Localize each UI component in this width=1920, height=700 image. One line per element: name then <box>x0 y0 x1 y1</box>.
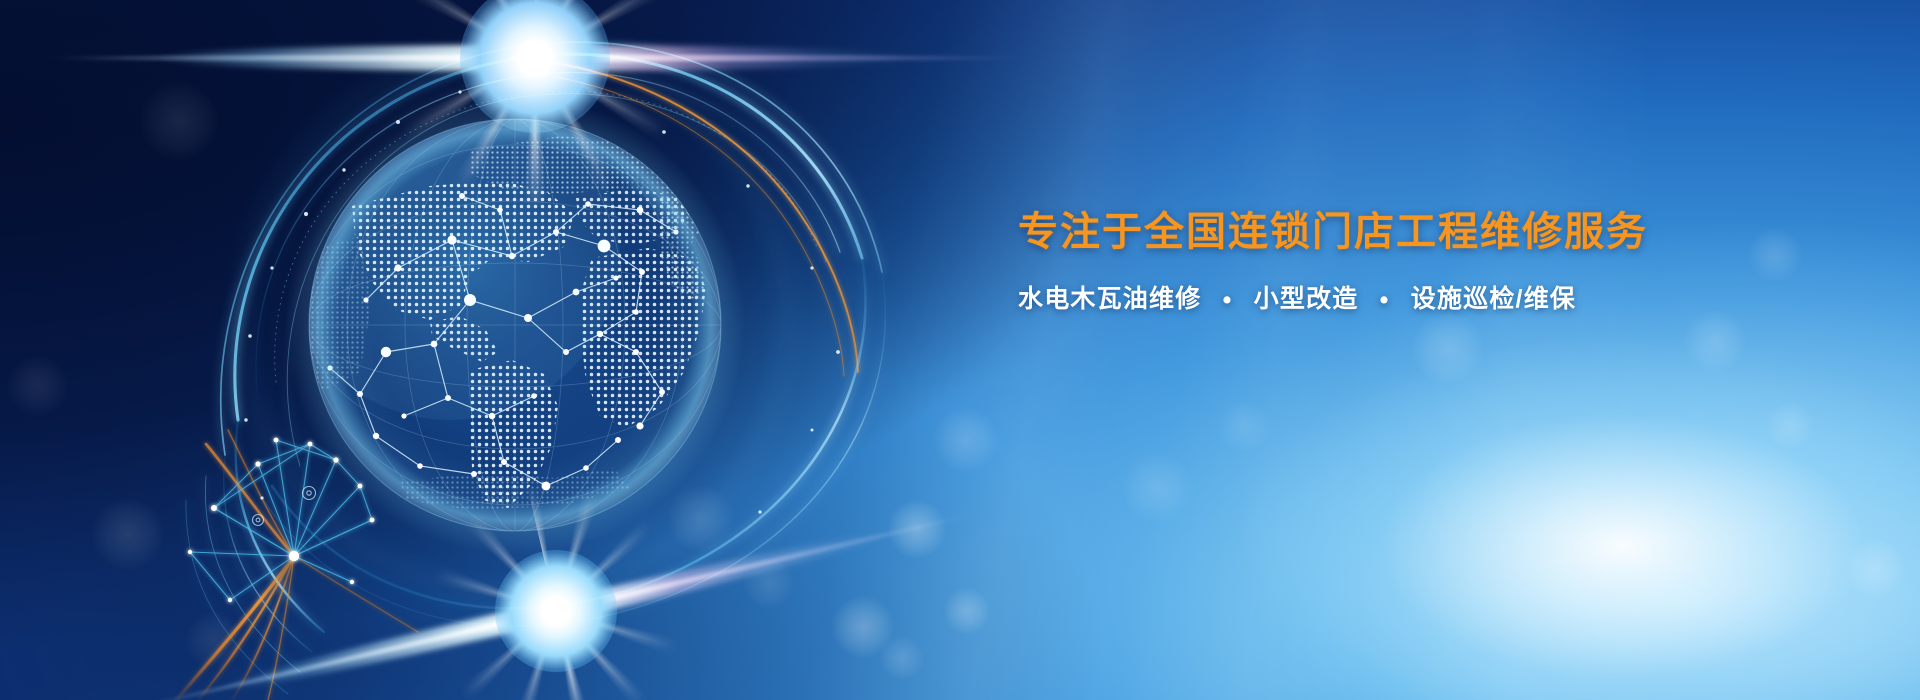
globe-network-artwork <box>0 0 1920 700</box>
subtitle-item-1: 水电木瓦油维修 <box>1018 285 1201 313</box>
subtitle-separator-dot: • <box>1223 284 1233 317</box>
banner-text-block: 专注于全国连锁门店工程维修服务 水电木瓦油维修 • 小型改造 • 设施巡检/维保 <box>1018 207 1658 317</box>
hero-banner: 专注于全国连锁门店工程维修服务 水电木瓦油维修 • 小型改造 • 设施巡检/维保 <box>0 0 1920 700</box>
subtitle-separator-dot: • <box>1380 284 1390 317</box>
banner-headline: 专注于全国连锁门店工程维修服务 <box>1018 207 1658 257</box>
globe <box>280 80 745 555</box>
subtitle-item-2: 小型改造 <box>1254 285 1359 313</box>
subtitle-item-3: 设施巡检/维保 <box>1411 285 1576 313</box>
banner-subtitle: 水电木瓦油维修 • 小型改造 • 设施巡检/维保 <box>1018 283 1658 317</box>
